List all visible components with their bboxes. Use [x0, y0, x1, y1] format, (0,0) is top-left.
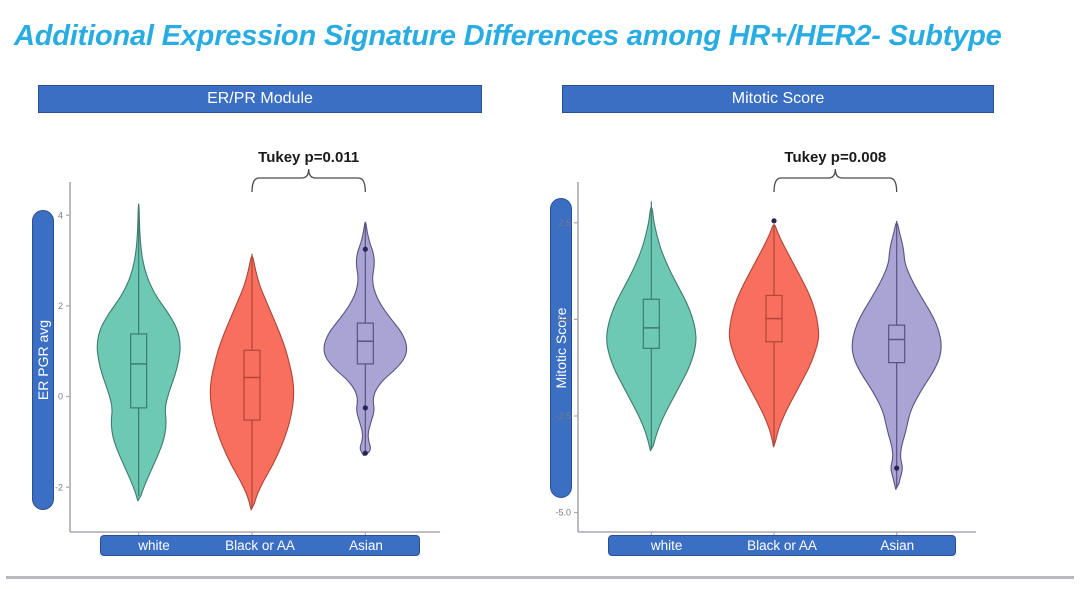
page-title: Additional Expression Signature Differen…: [14, 18, 1070, 54]
outlier-point: [771, 218, 776, 223]
outlier-point: [363, 451, 368, 456]
violin-black-or-aa: [210, 254, 293, 510]
violin-black-or-aa: [729, 218, 818, 447]
x-axis-categories-mitotic-score: whiteBlack or AAAsian: [608, 535, 956, 556]
chart-panel-mitotic-score: Mitotic Score Mitotic Score 2.50.0-2.5-5…: [540, 80, 1040, 560]
y-axis-tick-label: 2.5: [558, 218, 571, 228]
x-axis-categories-er-pr-module: whiteBlack or AAAsian: [100, 535, 420, 556]
outlier-point: [363, 247, 368, 252]
box-iqr: [889, 325, 905, 362]
violin-white: [607, 202, 696, 451]
x-category-label: white: [609, 538, 724, 553]
y-axis-tick-label: -2.5: [555, 411, 571, 421]
y-axis-tick-label: -2: [55, 482, 63, 492]
chart-panel-er-pr-module: ER/PR Module ER PGR avg 420-2Tukey p=0.0…: [18, 80, 518, 560]
violin-plot-er-pr-module: 420-2Tukey p=0.011: [18, 80, 518, 560]
violin-asian: [324, 222, 407, 456]
bottom-divider: [6, 576, 1074, 579]
x-category-label: Black or AA: [724, 538, 839, 553]
violin-white: [97, 204, 180, 501]
box-iqr: [643, 299, 659, 348]
y-axis-tick-label: -5.0: [555, 508, 571, 518]
slide-canvas: Additional Expression Signature Differen…: [0, 0, 1080, 589]
significance-annotation: Tukey p=0.008: [784, 149, 886, 166]
violin-plot-mitotic-score: 2.50.0-2.5-5.0Tukey p=0.008: [540, 80, 1040, 560]
y-axis-tick-label: 0.0: [558, 315, 571, 325]
outlier-point: [363, 405, 368, 410]
y-axis-tick-label: 0: [58, 392, 63, 402]
box-iqr: [131, 334, 147, 408]
x-category-label: white: [101, 538, 207, 553]
significance-bracket: [252, 169, 365, 192]
outlier-point: [894, 466, 899, 471]
x-category-label: Asian: [840, 538, 955, 553]
y-axis-tick-label: 4: [58, 210, 63, 220]
box-iqr: [244, 350, 260, 420]
violin-asian: [852, 221, 941, 490]
x-category-label: Asian: [313, 538, 419, 553]
y-axis-tick-label: 2: [58, 301, 63, 311]
x-category-label: Black or AA: [207, 538, 313, 553]
box-iqr: [357, 323, 373, 364]
significance-bracket: [774, 169, 897, 192]
significance-annotation: Tukey p=0.011: [258, 149, 359, 166]
